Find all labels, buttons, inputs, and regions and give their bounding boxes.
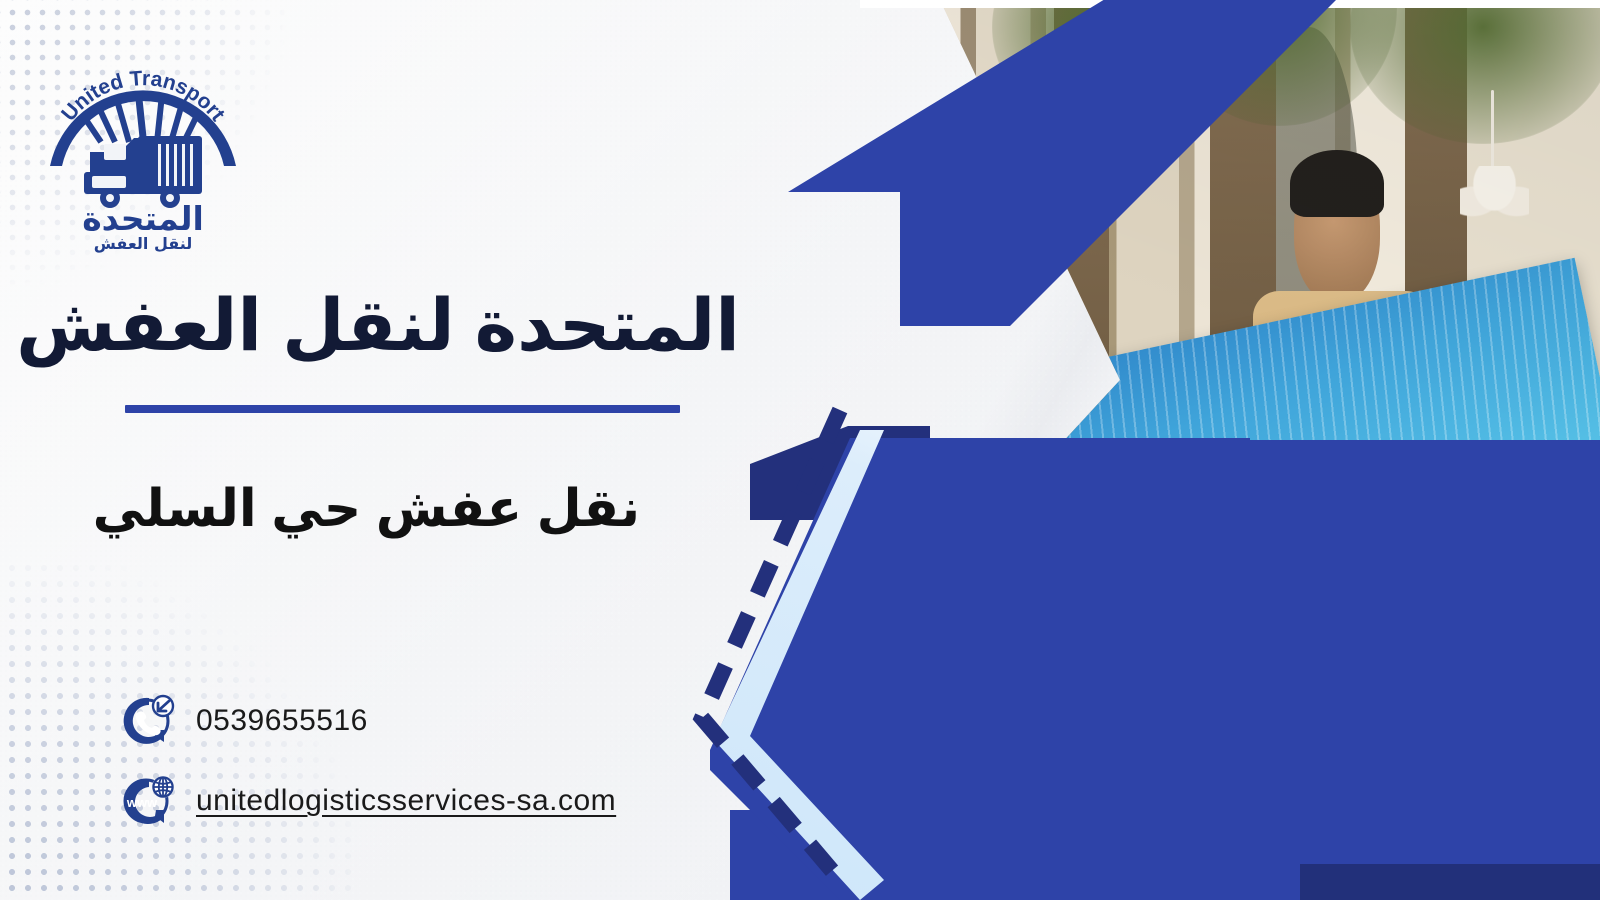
contact-website-row[interactable]: www unitedlogisticsservices-sa.com	[118, 772, 738, 830]
svg-text:www: www	[126, 795, 158, 810]
www-globe-icon: www	[118, 772, 176, 830]
content-column: United Transport	[0, 0, 820, 900]
page-title: المتحدة لنقل العفش	[72, 285, 740, 368]
phone-number[interactable]: 0539655516	[196, 704, 368, 738]
promo-banner: United Transport	[0, 0, 1600, 900]
logo-arabic-sub: لنقل العفش	[94, 234, 193, 253]
bottom-navy-bar	[1300, 864, 1600, 900]
website-url[interactable]: unitedlogisticsservices-sa.com	[196, 784, 616, 818]
page-subtitle: نقل عفش حي السلي	[72, 478, 640, 540]
company-logo[interactable]: United Transport	[38, 48, 248, 253]
truck-sunburst-icon: United Transport	[38, 48, 248, 253]
incoming-call-icon	[118, 692, 176, 750]
contact-phone-row[interactable]: 0539655516	[118, 692, 738, 750]
contact-block: 0539655516 www	[118, 692, 738, 852]
bottom-blue-bar	[1190, 864, 1310, 900]
logo-arabic-main: المتحدة	[82, 199, 204, 238]
title-underline-rule	[125, 405, 680, 413]
